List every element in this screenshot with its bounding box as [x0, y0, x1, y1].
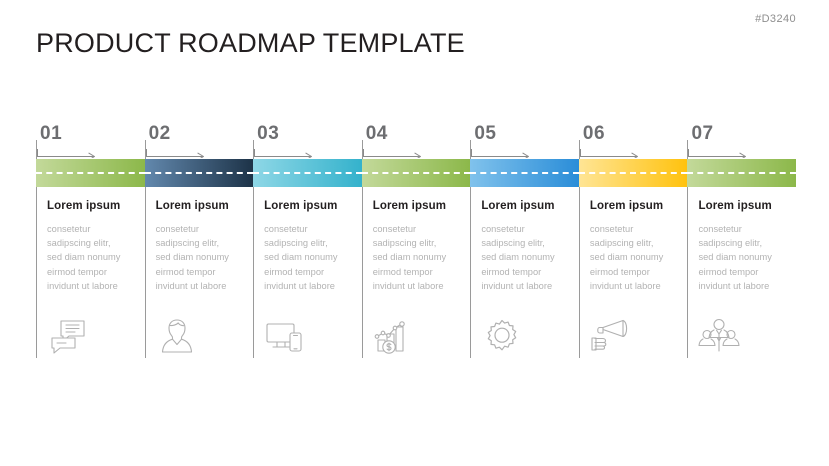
- step-heading: Lorem ipsum: [47, 200, 139, 212]
- chat-bubbles-icon: [47, 316, 89, 356]
- step-description-line: invidunt ut labore: [373, 279, 465, 293]
- step-description: consetetursadipscing elitr,sed diam nonu…: [481, 222, 573, 293]
- step-description-line: sed diam nonumy: [264, 250, 356, 264]
- roadmap-step[interactable]: 03 Lorem ipsumconsetetursadipscing elitr…: [253, 126, 362, 366]
- step-description: consetetursadipscing elitr,sed diam nonu…: [373, 222, 465, 293]
- step-text-block: Lorem ipsumconsetetursadipscing elitr,se…: [481, 200, 573, 293]
- arrow-right-icon: [37, 148, 99, 158]
- step-description-line: sed diam nonumy: [47, 250, 139, 264]
- arrow-right-icon: [688, 148, 750, 158]
- step-heading: Lorem ipsum: [698, 200, 790, 212]
- step-number: 01: [40, 124, 62, 143]
- step-text-block: Lorem ipsumconsetetursadipscing elitr,se…: [47, 200, 139, 293]
- step-description-line: eirmod tempor: [47, 265, 139, 279]
- timeline-dashed-line: [687, 172, 796, 174]
- step-description-line: invidunt ut labore: [264, 279, 356, 293]
- step-description-line: consetetur: [481, 222, 573, 236]
- step-description: consetetursadipscing elitr,sed diam nonu…: [264, 222, 356, 293]
- step-color-bar: [253, 159, 362, 187]
- step-color-bar: [579, 159, 688, 187]
- step-description-line: invidunt ut labore: [47, 279, 139, 293]
- step-description: consetetursadipscing elitr,sed diam nonu…: [590, 222, 682, 293]
- step-description-line: eirmod tempor: [156, 265, 248, 279]
- step-description-line: consetetur: [590, 222, 682, 236]
- step-text-block: Lorem ipsumconsetetursadipscing elitr,se…: [698, 200, 790, 293]
- step-heading: Lorem ipsum: [481, 200, 573, 212]
- step-description-line: consetetur: [156, 222, 248, 236]
- step-heading: Lorem ipsum: [590, 200, 682, 212]
- step-color-bar: [145, 159, 254, 187]
- roadmap-step[interactable]: 04 Lorem ipsumconsetetursadipscing elitr…: [362, 126, 471, 366]
- step-description-line: sed diam nonumy: [373, 250, 465, 264]
- step-description: consetetursadipscing elitr,sed diam nonu…: [698, 222, 790, 293]
- step-description-line: sadipscing elitr,: [698, 236, 790, 250]
- step-color-bar: [470, 159, 579, 187]
- step-description-line: invidunt ut labore: [481, 279, 573, 293]
- timeline-dashed-line: [145, 172, 254, 174]
- timeline-dashed-line: [470, 172, 579, 174]
- step-text-block: Lorem ipsumconsetetursadipscing elitr,se…: [590, 200, 682, 293]
- step-text-block: Lorem ipsumconsetetursadipscing elitr,se…: [156, 200, 248, 293]
- step-number: 02: [149, 124, 171, 143]
- timeline-dashed-line: [36, 172, 145, 174]
- step-text-block: Lorem ipsumconsetetursadipscing elitr,se…: [264, 200, 356, 293]
- step-color-bar: [362, 159, 471, 187]
- step-description-line: sadipscing elitr,: [47, 236, 139, 250]
- user-person-icon: [156, 316, 198, 356]
- roadmap-step[interactable]: 05 Lorem ipsumconsetetursadipscing elitr…: [470, 126, 579, 366]
- step-number: 03: [257, 124, 279, 143]
- step-description-line: eirmod tempor: [590, 265, 682, 279]
- timeline-dashed-line: [253, 172, 362, 174]
- step-number: 07: [691, 124, 713, 143]
- step-number: 05: [474, 124, 496, 143]
- step-description: consetetursadipscing elitr,sed diam nonu…: [156, 222, 248, 293]
- roadmap-step[interactable]: 02 Lorem ipsumconsetetursadipscing elitr…: [145, 126, 254, 366]
- step-description-line: sadipscing elitr,: [156, 236, 248, 250]
- step-description: consetetursadipscing elitr,sed diam nonu…: [47, 222, 139, 293]
- step-description-line: consetetur: [264, 222, 356, 236]
- step-description-line: consetetur: [373, 222, 465, 236]
- step-description-line: eirmod tempor: [698, 265, 790, 279]
- step-description-line: invidunt ut labore: [590, 279, 682, 293]
- step-description-line: invidunt ut labore: [698, 279, 790, 293]
- step-description-line: sadipscing elitr,: [373, 236, 465, 250]
- step-color-bar: [687, 159, 796, 187]
- roadmap-step[interactable]: 07 Lorem ipsumconsetetursadipscing elitr…: [687, 126, 796, 366]
- step-color-bar: [36, 159, 145, 187]
- step-description-line: eirmod tempor: [481, 265, 573, 279]
- gear-cog-icon: [481, 316, 523, 356]
- step-description-line: consetetur: [698, 222, 790, 236]
- step-description-line: sed diam nonumy: [698, 250, 790, 264]
- step-heading: Lorem ipsum: [156, 200, 248, 212]
- team-group-people-icon: [698, 316, 740, 356]
- arrow-right-icon: [471, 148, 533, 158]
- step-description-line: eirmod tempor: [264, 265, 356, 279]
- timeline-dashed-line: [579, 172, 688, 174]
- devices-monitor-phone-icon: [264, 316, 306, 356]
- megaphone-hand-icon: [590, 316, 632, 356]
- step-description-line: sadipscing elitr,: [481, 236, 573, 250]
- bar-chart-dollar-icon: [373, 316, 415, 356]
- step-description-line: eirmod tempor: [373, 265, 465, 279]
- roadmap-step[interactable]: 06 Lorem ipsumconsetetursadipscing elitr…: [579, 126, 688, 366]
- step-description-line: sadipscing elitr,: [590, 236, 682, 250]
- step-description-line: consetetur: [47, 222, 139, 236]
- arrow-right-icon: [254, 148, 316, 158]
- step-number: 04: [366, 124, 388, 143]
- step-description-line: sed diam nonumy: [590, 250, 682, 264]
- step-description-line: sed diam nonumy: [156, 250, 248, 264]
- slide-canvas: #D3240 PRODUCT ROADMAP TEMPLATE 01 Lorem…: [0, 0, 829, 466]
- document-code: #D3240: [755, 13, 796, 25]
- arrow-right-icon: [146, 148, 208, 158]
- timeline-dashed-line: [362, 172, 471, 174]
- roadmap-step[interactable]: 01 Lorem ipsumconsetetursadipscing elitr…: [36, 126, 145, 366]
- step-text-block: Lorem ipsumconsetetursadipscing elitr,se…: [373, 200, 465, 293]
- step-description-line: invidunt ut labore: [156, 279, 248, 293]
- arrow-right-icon: [363, 148, 425, 158]
- roadmap-timeline: 01 Lorem ipsumconsetetursadipscing elitr…: [36, 126, 796, 366]
- step-description-line: sadipscing elitr,: [264, 236, 356, 250]
- step-heading: Lorem ipsum: [264, 200, 356, 212]
- step-heading: Lorem ipsum: [373, 200, 465, 212]
- page-title: PRODUCT ROADMAP TEMPLATE: [36, 28, 465, 59]
- arrow-right-icon: [580, 148, 642, 158]
- step-number: 06: [583, 124, 605, 143]
- step-description-line: sed diam nonumy: [481, 250, 573, 264]
